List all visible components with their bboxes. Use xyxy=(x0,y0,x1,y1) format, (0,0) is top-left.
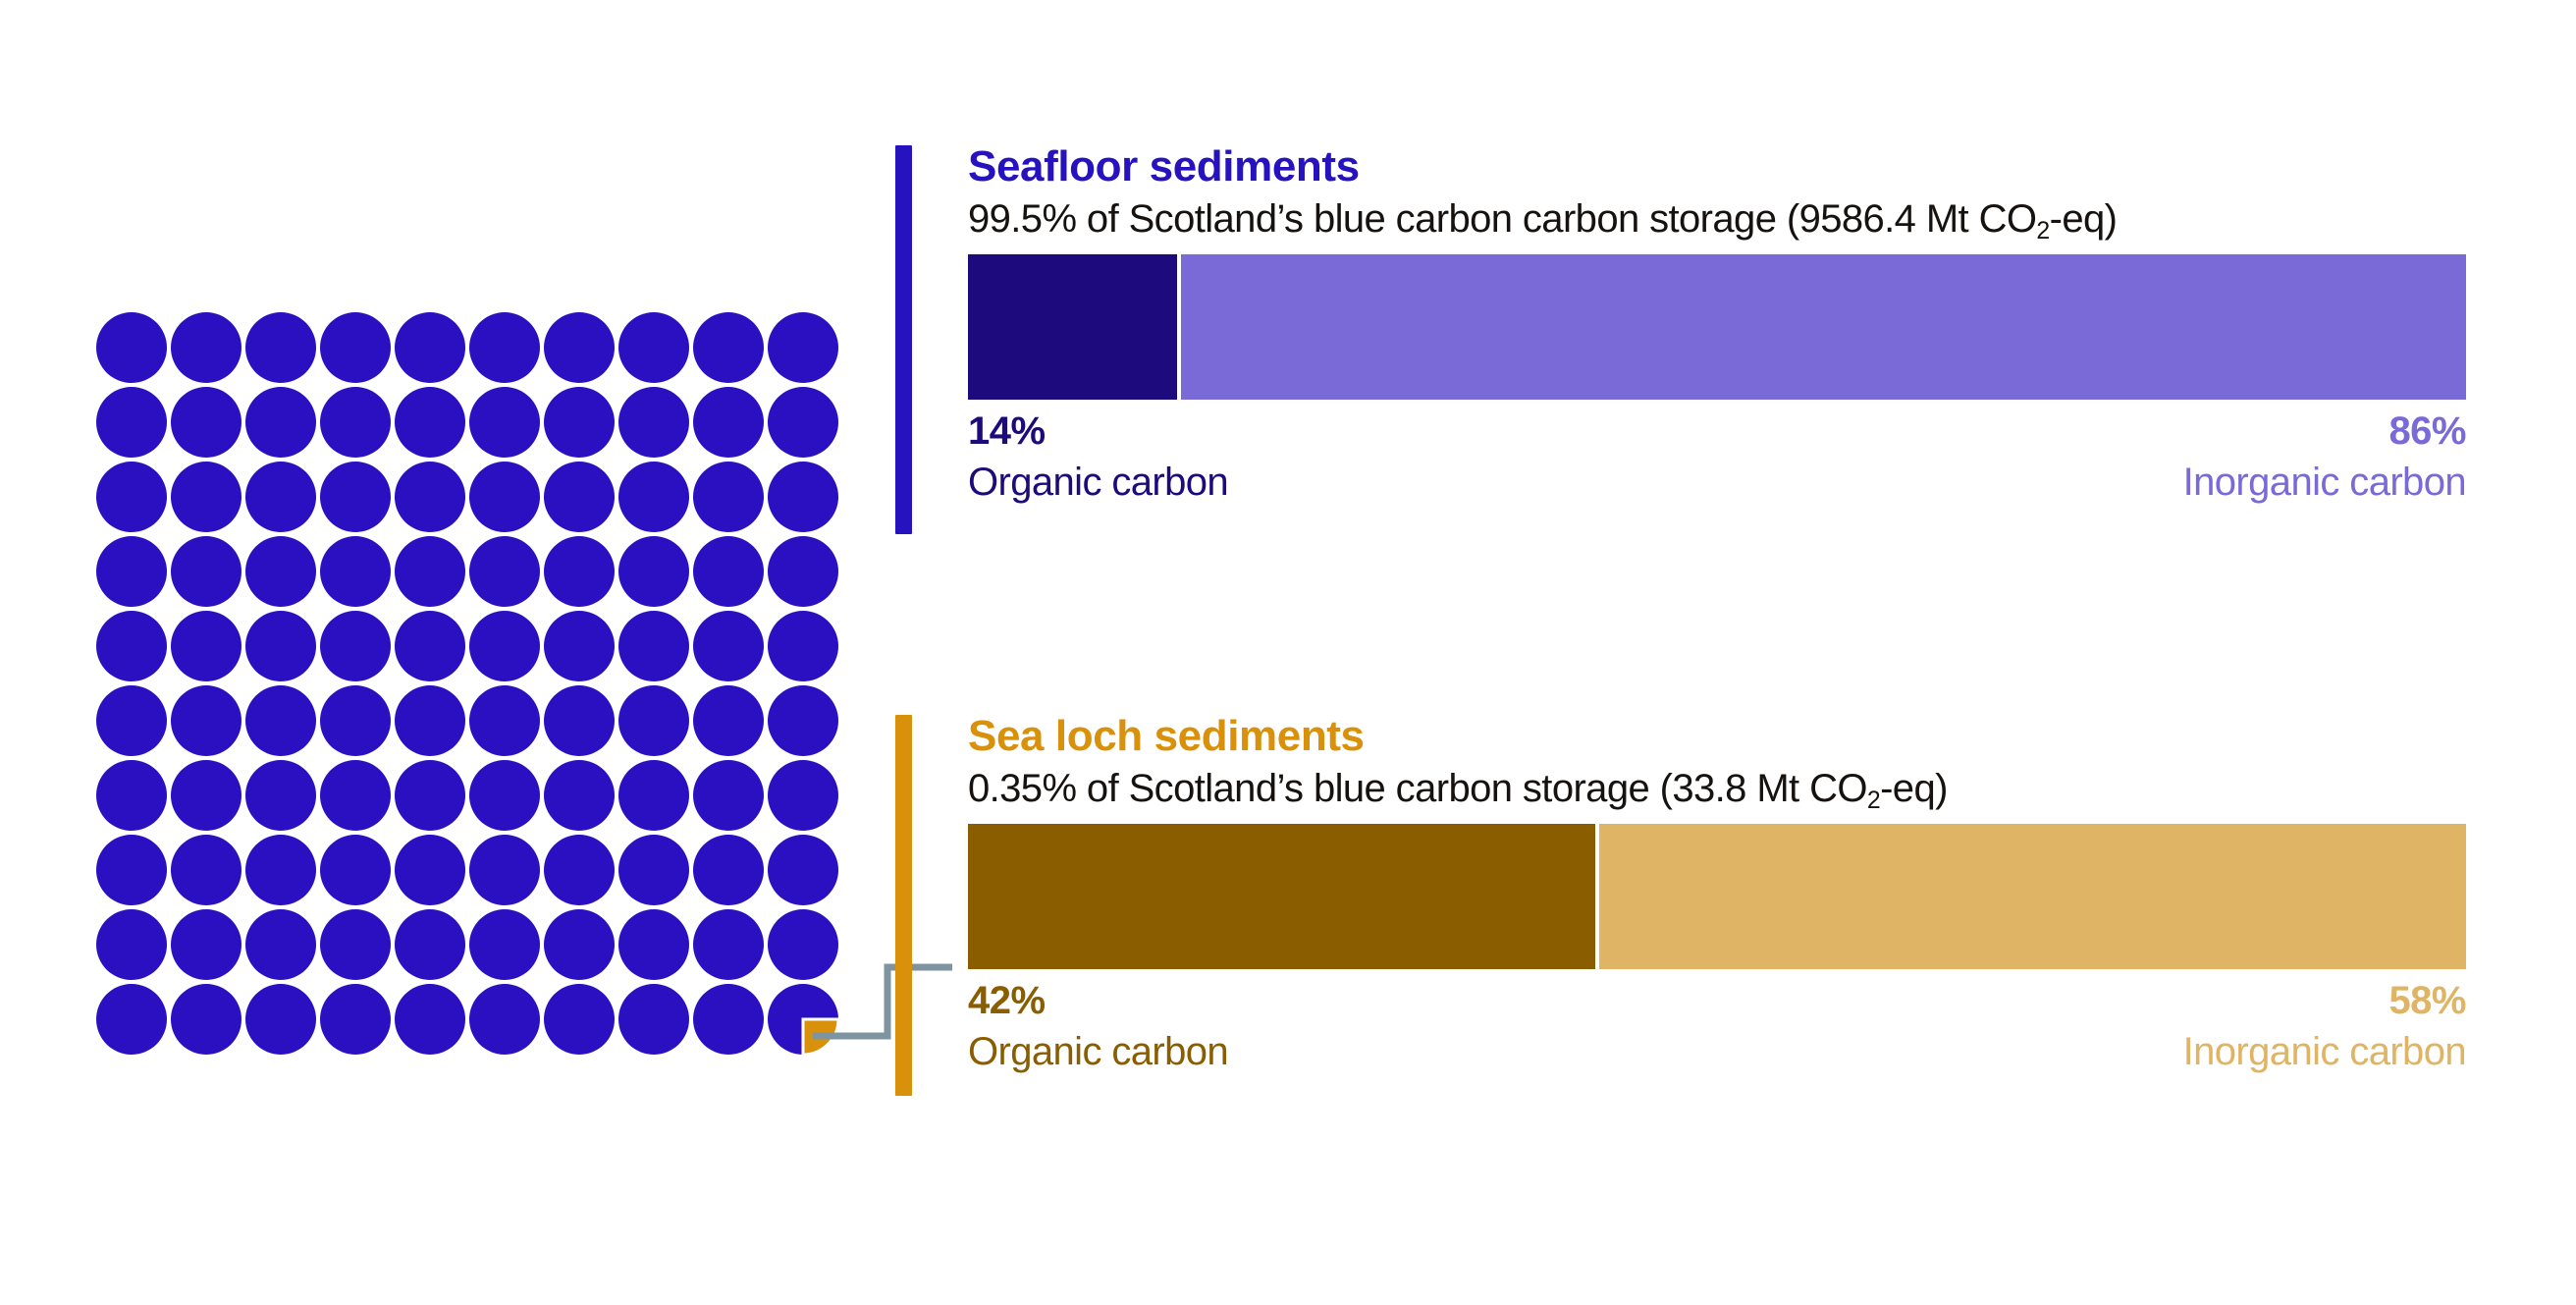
waffle-dot xyxy=(469,536,540,607)
waffle-dot xyxy=(768,760,838,831)
waffle-dot xyxy=(245,312,316,383)
waffle-dot xyxy=(395,462,465,532)
waffle-dot xyxy=(171,984,241,1055)
waffle-dot xyxy=(768,462,838,532)
waffle-dot xyxy=(96,536,167,607)
section-body-seafloor: Seafloor sediments 99.5% of Scotland’s b… xyxy=(968,145,2466,502)
waffle-dot xyxy=(618,611,689,681)
waffle-dot xyxy=(245,760,316,831)
waffle-dot xyxy=(320,611,391,681)
waffle-dot xyxy=(544,835,615,905)
waffle-dot xyxy=(618,909,689,980)
waffle-dot xyxy=(96,909,167,980)
waffle-dot xyxy=(245,984,316,1055)
waffle-dot xyxy=(768,909,838,980)
accent-bar-sealoch xyxy=(895,715,912,1096)
waffle-dot xyxy=(96,760,167,831)
waffle-dot xyxy=(693,685,764,756)
waffle-dot xyxy=(395,835,465,905)
label-group-seafloor-inorganic: 86% Inorganic carbon xyxy=(2183,411,2466,502)
waffle-dot xyxy=(544,984,615,1055)
waffle-dot xyxy=(245,909,316,980)
waffle-dot xyxy=(693,984,764,1055)
waffle-dot xyxy=(245,835,316,905)
subtitle-subscript-seafloor: 2 xyxy=(2036,218,2049,245)
label-row-seafloor: 14% Organic carbon 86% Inorganic carbon xyxy=(968,411,2466,502)
waffle-dot xyxy=(171,387,241,458)
waffle-dot xyxy=(469,760,540,831)
waffle-dot xyxy=(768,835,838,905)
label-seafloor-organic: Organic carbon xyxy=(968,462,1228,502)
waffle-dot xyxy=(469,984,540,1055)
waffle-dot xyxy=(469,312,540,383)
section-subtitle-seafloor: 99.5% of Scotland’s blue carbon carbon s… xyxy=(968,198,2466,241)
waffle-dot xyxy=(395,312,465,383)
waffle-dot xyxy=(96,835,167,905)
bar-segment-sealoch-inorganic xyxy=(1599,824,2466,969)
waffle-dot xyxy=(395,984,465,1055)
waffle-dot xyxy=(395,611,465,681)
waffle-dot xyxy=(320,387,391,458)
bar-segment-sealoch-organic xyxy=(968,824,1595,969)
waffle-dot xyxy=(245,685,316,756)
waffle-dot xyxy=(618,536,689,607)
waffle-dot xyxy=(693,611,764,681)
label-sealoch-inorganic: Inorganic carbon xyxy=(2183,1032,2466,1071)
waffle-dot xyxy=(618,312,689,383)
waffle-dot xyxy=(469,462,540,532)
waffle-dot xyxy=(320,462,391,532)
waffle-dot xyxy=(693,760,764,831)
subtitle-suffix-seafloor: -eq) xyxy=(2050,197,2118,241)
waffle-dot xyxy=(395,685,465,756)
waffle-dot xyxy=(768,611,838,681)
waffle-dot xyxy=(171,312,241,383)
waffle-dot xyxy=(544,387,615,458)
waffle-dot xyxy=(171,462,241,532)
waffle-dot xyxy=(395,909,465,980)
label-group-seafloor-organic: 14% Organic carbon xyxy=(968,411,1228,502)
percent-seafloor-inorganic: 86% xyxy=(2183,411,2466,451)
waffle-dot xyxy=(544,312,615,383)
waffle-dot xyxy=(395,760,465,831)
section-body-sealoch: Sea loch sediments 0.35% of Scotland’s b… xyxy=(968,715,2466,1071)
waffle-dot xyxy=(320,835,391,905)
waffle-dot xyxy=(544,685,615,756)
waffle-dot xyxy=(618,835,689,905)
waffle-dot xyxy=(768,387,838,458)
section-subtitle-sealoch: 0.35% of Scotland’s blue carbon storage … xyxy=(968,768,2466,810)
waffle-dot xyxy=(544,536,615,607)
waffle-dot xyxy=(171,760,241,831)
waffle-dot xyxy=(96,387,167,458)
waffle-dot xyxy=(618,760,689,831)
waffle-dot xyxy=(245,462,316,532)
bar-segment-seafloor-organic xyxy=(968,254,1177,400)
waffle-dot xyxy=(469,685,540,756)
label-group-sealoch-inorganic: 58% Inorganic carbon xyxy=(2183,981,2466,1071)
waffle-dot xyxy=(171,685,241,756)
waffle-dot xyxy=(171,835,241,905)
waffle-dot xyxy=(395,536,465,607)
waffle-dot xyxy=(245,611,316,681)
waffle-dot xyxy=(245,536,316,607)
label-seafloor-inorganic: Inorganic carbon xyxy=(2183,462,2466,502)
waffle-dot-partial xyxy=(768,984,838,1055)
waffle-dot xyxy=(544,909,615,980)
waffle-dot xyxy=(171,611,241,681)
waffle-dot xyxy=(96,462,167,532)
accent-bar-seafloor xyxy=(895,145,912,534)
bar-segment-seafloor-inorganic xyxy=(1181,254,2466,400)
waffle-dot xyxy=(693,835,764,905)
label-group-sealoch-organic: 42% Organic carbon xyxy=(968,981,1228,1071)
percent-seafloor-organic: 14% xyxy=(968,411,1228,451)
waffle-dot xyxy=(469,835,540,905)
waffle-dot xyxy=(96,611,167,681)
waffle-dot xyxy=(768,536,838,607)
waffle-dot xyxy=(320,909,391,980)
waffle-dot xyxy=(693,462,764,532)
waffle-dot xyxy=(469,611,540,681)
waffle-dot xyxy=(544,611,615,681)
waffle-dot xyxy=(618,462,689,532)
section-title-seafloor: Seafloor sediments xyxy=(968,145,2466,189)
waffle-dot xyxy=(618,685,689,756)
stacked-bar-seafloor xyxy=(968,254,2466,400)
section-title-sealoch: Sea loch sediments xyxy=(968,715,2466,758)
waffle-dot xyxy=(96,984,167,1055)
waffle-dot xyxy=(618,984,689,1055)
waffle-dot xyxy=(320,312,391,383)
waffle-dot xyxy=(693,909,764,980)
waffle-dot-matrix xyxy=(96,312,842,1059)
waffle-dot xyxy=(320,536,391,607)
waffle-dot xyxy=(693,387,764,458)
waffle-dot xyxy=(320,984,391,1055)
subtitle-suffix-sealoch: -eq) xyxy=(1880,767,1948,810)
waffle-dot xyxy=(768,312,838,383)
percent-sealoch-organic: 42% xyxy=(968,981,1228,1020)
waffle-dot xyxy=(693,536,764,607)
waffle-dot xyxy=(469,909,540,980)
subtitle-text-sealoch: 0.35% of Scotland’s blue carbon storage … xyxy=(968,767,1867,810)
subtitle-text-seafloor: 99.5% of Scotland’s blue carbon carbon s… xyxy=(968,197,2036,241)
waffle-dot xyxy=(544,760,615,831)
waffle-dot xyxy=(395,387,465,458)
waffle-dot xyxy=(96,312,167,383)
percent-sealoch-inorganic: 58% xyxy=(2183,981,2466,1020)
label-sealoch-organic: Organic carbon xyxy=(968,1032,1228,1071)
waffle-dot xyxy=(469,387,540,458)
subtitle-subscript-sealoch: 2 xyxy=(1867,788,1880,814)
waffle-dot xyxy=(544,462,615,532)
waffle-dot xyxy=(96,685,167,756)
waffle-dot xyxy=(171,909,241,980)
waffle-dot xyxy=(693,312,764,383)
label-row-sealoch: 42% Organic carbon 58% Inorganic carbon xyxy=(968,981,2466,1071)
waffle-dot-wedge xyxy=(803,1019,838,1055)
waffle-dot xyxy=(320,685,391,756)
waffle-dot xyxy=(768,685,838,756)
waffle-dot xyxy=(618,387,689,458)
waffle-dot xyxy=(320,760,391,831)
waffle-dot xyxy=(171,536,241,607)
waffle-dot xyxy=(245,387,316,458)
stacked-bar-sealoch xyxy=(968,824,2466,969)
